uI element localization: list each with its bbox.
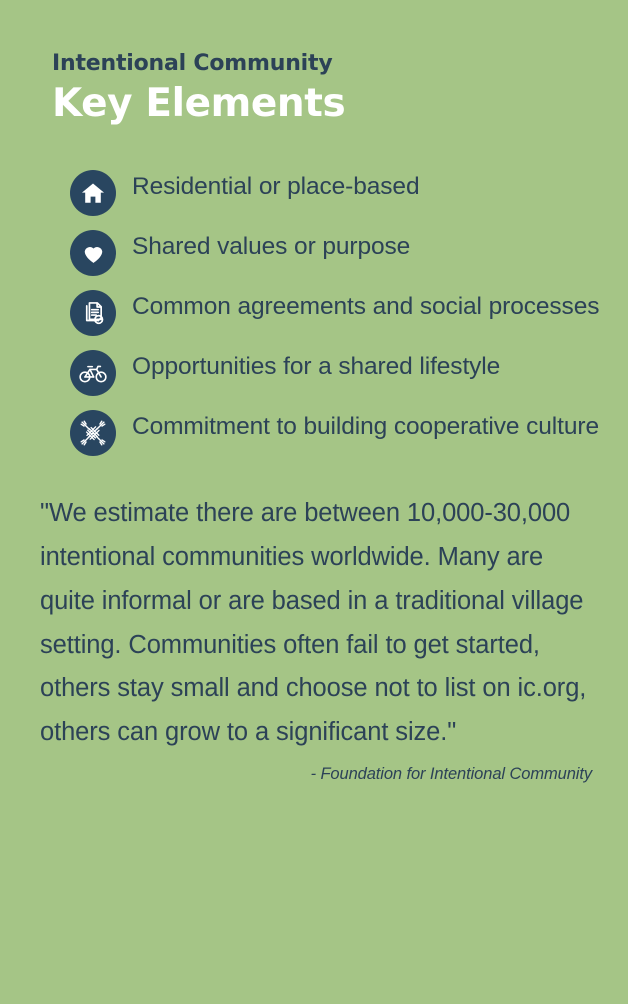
list-item-label: Residential or place-based [132,169,420,205]
home-icon [70,170,116,216]
list-item: Opportunities for a shared lifestyle [70,349,604,396]
quote-block: "We estimate there are between 10,000-30… [0,492,628,784]
key-elements-card: Intentional Community Key Elements Resid… [0,0,628,1004]
card-header: Intentional Community Key Elements [0,0,628,127]
list-item: Residential or place-based [70,169,604,216]
list-item: Commitment to building cooperative cultu… [70,409,604,456]
list-item-label: Opportunities for a shared lifestyle [132,349,500,385]
key-elements-list: Residential or place-based Shared values… [0,169,628,456]
quote-text: "We estimate there are between 10,000-30… [40,492,598,755]
list-item-label: Commitment to building cooperative cultu… [132,409,599,445]
list-item: Shared values or purpose [70,229,604,276]
list-item-label: Shared values or purpose [132,229,410,265]
bicycle-icon [70,350,116,396]
page-title: Key Elements [52,82,588,127]
quote-attribution: - Foundation for Intentional Community [40,765,598,784]
document-check-icon [70,290,116,336]
list-item: Common agreements and social processes [70,289,604,336]
list-item-label: Common agreements and social processes [132,289,599,325]
clasped-hands-icon [70,410,116,456]
heart-icon [70,230,116,276]
eyebrow-label: Intentional Community [52,52,588,76]
